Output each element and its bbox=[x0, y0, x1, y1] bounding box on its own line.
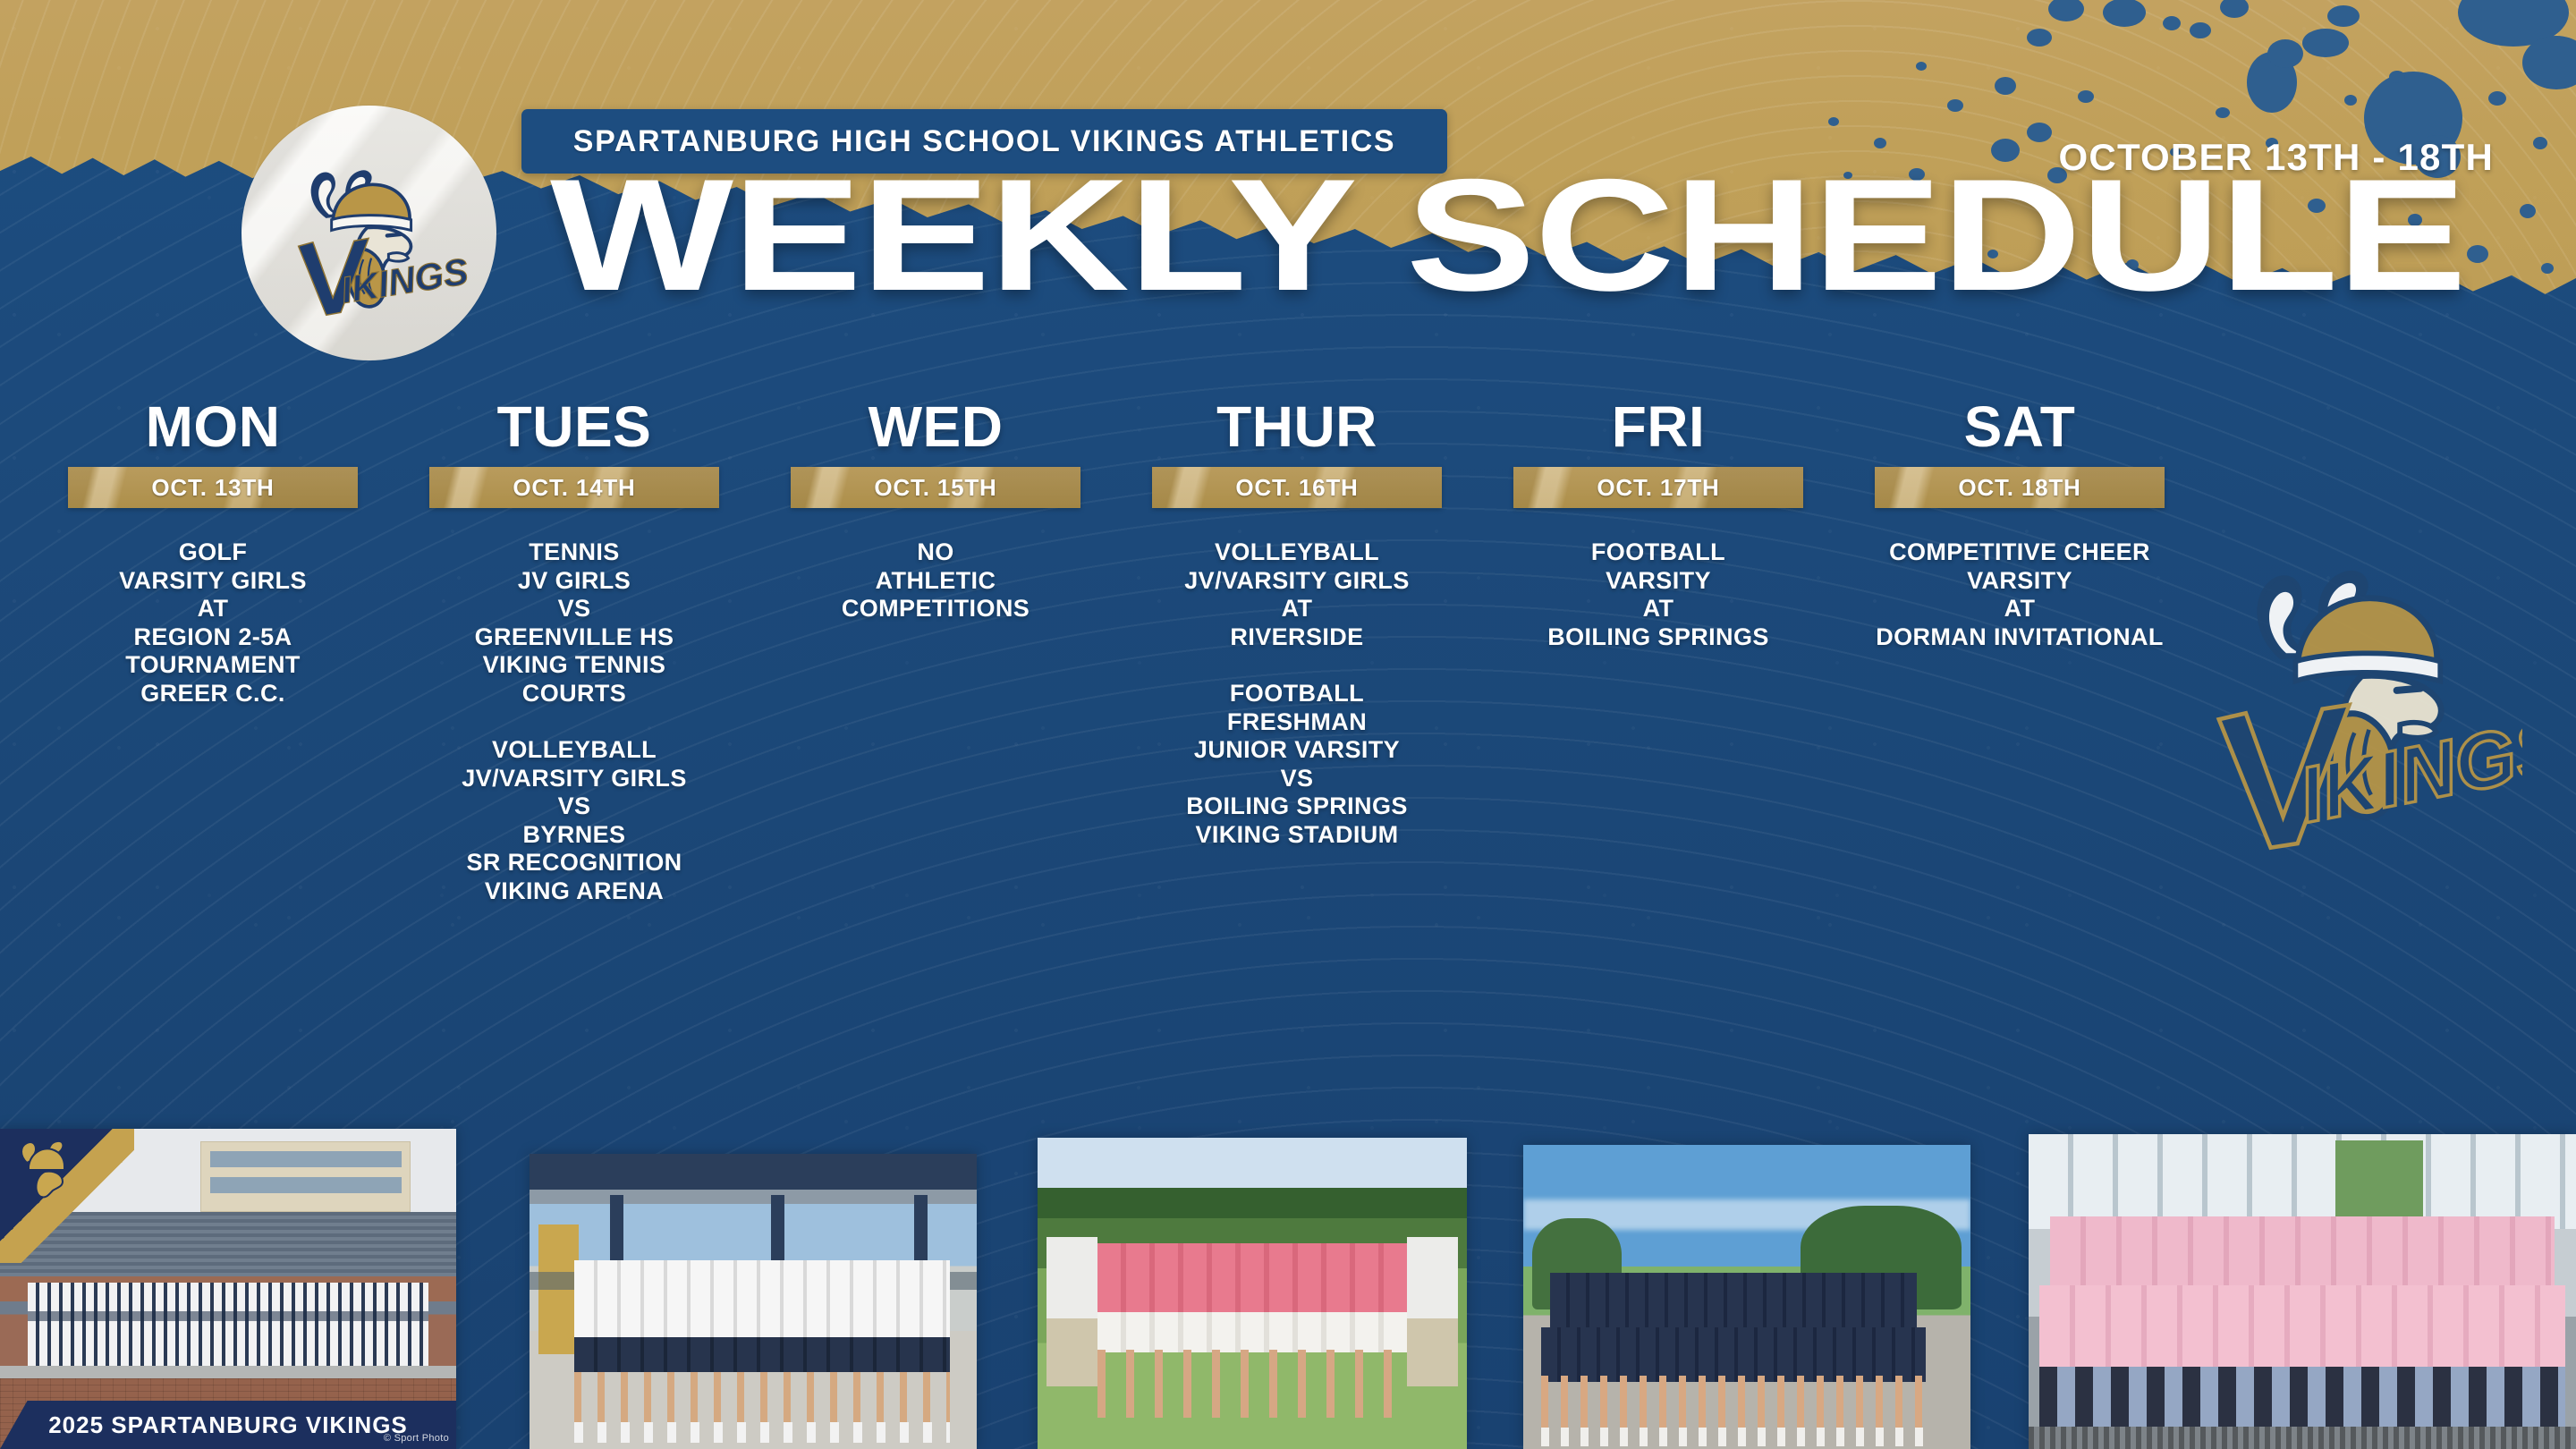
event-block: NOATHLETICCOMPETITIONS bbox=[755, 538, 1116, 623]
event-line: RIVERSIDE bbox=[1116, 623, 1478, 652]
day-date-banner: OCT. 14TH bbox=[429, 467, 719, 508]
day-events-list: NOATHLETICCOMPETITIONS bbox=[755, 538, 1116, 623]
day-events-list: COMPETITIVE CHEERVARSITYATDORMAN INVITAT… bbox=[1839, 538, 2200, 651]
day-name-label: THUR bbox=[1116, 394, 1478, 460]
day-column-fri: FRIOCT. 17THFOOTBALLVARSITYATBOILING SPR… bbox=[1478, 394, 1839, 905]
event-line: NO bbox=[755, 538, 1116, 567]
event-line: TENNIS bbox=[394, 538, 755, 567]
day-events-list: GOLFVARSITY GIRLSATREGION 2-5ATOURNAMENT… bbox=[32, 538, 394, 708]
event-line: VIKING STADIUM bbox=[1116, 821, 1478, 850]
photo-strip: 2025 SPARTANBURG VIKINGS © Sport Photo bbox=[0, 1100, 2576, 1449]
event-line: JUNIOR VARSITY bbox=[1116, 736, 1478, 765]
day-date-text: OCT. 13TH bbox=[151, 474, 274, 502]
event-line: VARSITY GIRLS bbox=[32, 567, 394, 596]
day-date-banner-wrap: OCT. 16TH bbox=[1116, 467, 1478, 508]
date-range-label: OCTOBER 13TH - 18TH bbox=[2059, 136, 2494, 179]
event-line: GREENVILLE HS bbox=[394, 623, 755, 652]
event-block: FOOTBALLVARSITYATBOILING SPRINGS bbox=[1478, 538, 1839, 651]
day-date-text: OCT. 18TH bbox=[1958, 474, 2080, 502]
day-name-label: FRI bbox=[1478, 394, 1839, 460]
day-date-banner: OCT. 16TH bbox=[1152, 467, 1442, 508]
poster-canvas: IKINGS SPARTANBURG HIGH SCHOOL VIKINGS A… bbox=[0, 0, 2576, 1449]
day-date-banner-wrap: OCT. 17TH bbox=[1478, 467, 1839, 508]
day-column-wed: WEDOCT. 15THNOATHLETICCOMPETITIONS bbox=[755, 394, 1116, 905]
day-date-banner: OCT. 13TH bbox=[68, 467, 358, 508]
photo-caption-text: 2025 SPARTANBURG VIKINGS bbox=[48, 1411, 408, 1439]
event-block: COMPETITIVE CHEERVARSITYATDORMAN INVITAT… bbox=[1839, 538, 2200, 651]
day-name-label: SAT bbox=[1839, 394, 2200, 460]
event-block: VOLLEYBALLJV/VARSITY GIRLSVSBYRNESSR REC… bbox=[394, 736, 755, 905]
event-line: TOURNAMENT bbox=[32, 651, 394, 680]
event-line: REGION 2-5A bbox=[32, 623, 394, 652]
event-line: VS bbox=[1116, 765, 1478, 793]
photo-girls-golf-team[interactable] bbox=[1038, 1138, 1467, 1449]
photo-girls-tennis-team[interactable] bbox=[530, 1154, 977, 1449]
event-line: COMPETITIVE CHEER bbox=[1839, 538, 2200, 567]
day-events-list: VOLLEYBALLJV/VARSITY GIRLSATRIVERSIDEFOO… bbox=[1116, 538, 1478, 849]
event-line: VIKING TENNIS bbox=[394, 651, 755, 680]
day-column-tues: TUESOCT. 14THTENNISJV GIRLSVSGREENVILLE … bbox=[394, 394, 755, 905]
event-block: GOLFVARSITY GIRLSATREGION 2-5ATOURNAMENT… bbox=[32, 538, 394, 708]
event-line: GOLF bbox=[32, 538, 394, 567]
day-events-list: TENNISJV GIRLSVSGREENVILLE HSVIKING TENN… bbox=[394, 538, 755, 905]
event-line: SR RECOGNITION bbox=[394, 849, 755, 877]
event-line: JV/VARSITY GIRLS bbox=[1116, 567, 1478, 596]
event-line: JV GIRLS bbox=[394, 567, 755, 596]
event-line: JV/VARSITY GIRLS bbox=[394, 765, 755, 793]
day-date-banner: OCT. 15TH bbox=[791, 467, 1080, 508]
event-block: TENNISJV GIRLSVSGREENVILLE HSVIKING TENN… bbox=[394, 538, 755, 708]
event-line: GREER C.C. bbox=[32, 680, 394, 708]
day-date-banner-wrap: OCT. 13TH bbox=[32, 467, 394, 508]
event-line: FOOTBALL bbox=[1116, 680, 1478, 708]
day-date-text: OCT. 15TH bbox=[874, 474, 996, 502]
event-block: VOLLEYBALLJV/VARSITY GIRLSATRIVERSIDE bbox=[1116, 538, 1478, 651]
event-block: FOOTBALLFRESHMANJUNIOR VARSITYVSBOILING … bbox=[1116, 680, 1478, 849]
day-date-banner: OCT. 18TH bbox=[1875, 467, 2165, 508]
day-column-mon: MONOCT. 13THGOLFVARSITY GIRLSATREGION 2-… bbox=[32, 394, 394, 905]
day-date-banner-wrap: OCT. 15TH bbox=[755, 467, 1116, 508]
photo-credit-text: © Sport Photo bbox=[384, 1433, 449, 1444]
event-line: VS bbox=[394, 792, 755, 821]
event-line: VOLLEYBALL bbox=[1116, 538, 1478, 567]
day-date-text: OCT. 16TH bbox=[1235, 474, 1358, 502]
event-line: FOOTBALL bbox=[1478, 538, 1839, 567]
event-line: VARSITY bbox=[1839, 567, 2200, 596]
event-line: AT bbox=[1116, 595, 1478, 623]
day-date-text: OCT. 14TH bbox=[513, 474, 635, 502]
photo-swim-team[interactable] bbox=[2029, 1134, 2576, 1449]
event-line: VS bbox=[394, 595, 755, 623]
event-line: BYRNES bbox=[394, 821, 755, 850]
event-line: AT bbox=[1839, 595, 2200, 623]
event-line: DORMAN INVITATIONAL bbox=[1839, 623, 2200, 652]
event-line: VOLLEYBALL bbox=[394, 736, 755, 765]
day-column-sat: SATOCT. 18THCOMPETITIVE CHEERVARSITYATDO… bbox=[1839, 394, 2200, 905]
vikings-head-small-icon bbox=[14, 1140, 68, 1200]
day-name-label: MON bbox=[32, 394, 394, 460]
day-date-banner-wrap: OCT. 18TH bbox=[1839, 467, 2200, 508]
day-events-list: FOOTBALLVARSITYATBOILING SPRINGS bbox=[1478, 538, 1839, 651]
event-line: COURTS bbox=[394, 680, 755, 708]
day-date-banner-wrap: OCT. 14TH bbox=[394, 467, 755, 508]
day-date-banner: OCT. 17TH bbox=[1513, 467, 1803, 508]
day-date-text: OCT. 17TH bbox=[1597, 474, 1719, 502]
vikings-logo-badge: IKINGS bbox=[241, 106, 496, 360]
day-column-thur: THUROCT. 16THVOLLEYBALLJV/VARSITY GIRLSA… bbox=[1116, 394, 1478, 905]
page-title: WEEKLY SCHEDULE bbox=[550, 157, 2576, 313]
photo-corner-ribbon bbox=[0, 1129, 134, 1263]
day-name-label: TUES bbox=[394, 394, 755, 460]
photo-competitive-cheer-team[interactable] bbox=[1523, 1145, 1970, 1449]
event-line: FRESHMAN bbox=[1116, 708, 1478, 737]
event-line: AT bbox=[32, 595, 394, 623]
event-line: VIKING ARENA bbox=[394, 877, 755, 906]
day-name-label: WED bbox=[755, 394, 1116, 460]
schedule-week-grid: MONOCT. 13THGOLFVARSITY GIRLSATREGION 2-… bbox=[0, 394, 2576, 905]
event-line: ATHLETIC bbox=[755, 567, 1116, 596]
event-line: VARSITY bbox=[1478, 567, 1839, 596]
event-line: COMPETITIONS bbox=[755, 595, 1116, 623]
event-line: AT bbox=[1478, 595, 1839, 623]
vikings-head-logo-icon: IKINGS bbox=[269, 137, 468, 335]
event-line: BOILING SPRINGS bbox=[1478, 623, 1839, 652]
event-line: BOILING SPRINGS bbox=[1116, 792, 1478, 821]
photo-football-team[interactable]: 2025 SPARTANBURG VIKINGS © Sport Photo bbox=[0, 1129, 456, 1449]
